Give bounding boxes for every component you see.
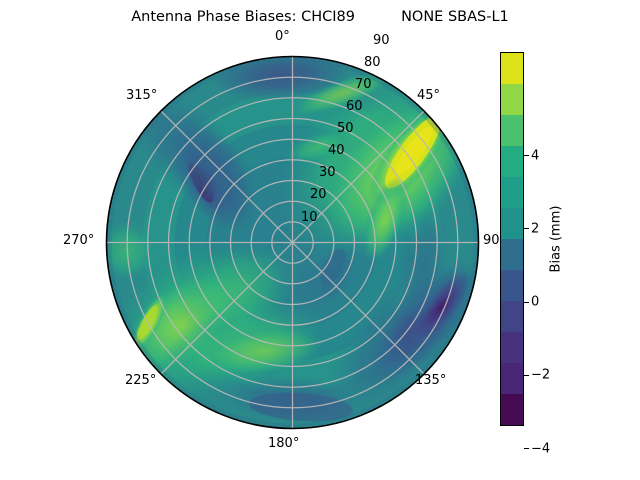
azimuth-label-90: 90 <box>483 233 500 248</box>
azimuth-label-315: 315° <box>126 88 157 103</box>
azimuth-label-45: 45° <box>417 88 440 103</box>
zenith-label-60: 60 <box>346 99 363 114</box>
colorbar-band-7 <box>501 270 523 301</box>
colorbar-band-9 <box>501 332 523 363</box>
zenith-label-90: 90 <box>373 33 390 48</box>
colorbar-band-4 <box>501 177 523 208</box>
colorbar-tick-2 <box>524 228 529 229</box>
polar-plot: 0° 45° 90 135° 180° 225° 270° 315° 10 20… <box>105 55 480 430</box>
colorbar-tick-m2 <box>524 375 529 376</box>
colorbar-tick-4 <box>524 155 529 156</box>
colorbar-band-11 <box>501 394 523 425</box>
colorbar-tick-m4 <box>524 448 529 449</box>
azimuth-label-135: 135° <box>415 373 446 388</box>
colorbar-band-5 <box>501 208 523 239</box>
page-title: Antenna Phase Biases: CHCI89 NONE SBAS-L… <box>0 8 640 26</box>
colorbar-band-1 <box>501 84 523 115</box>
colorbar-band-6 <box>501 239 523 270</box>
azimuth-label-270: 270° <box>63 233 94 248</box>
colorbar-gradient <box>500 52 524 426</box>
colorbar-ticklabel-m4: −4 <box>531 442 550 455</box>
azimuth-label-0: 0° <box>275 29 290 44</box>
azimuth-label-225: 225° <box>125 373 156 388</box>
colorbar-ticklabel-4: 4 <box>531 149 539 162</box>
colorbar-band-8 <box>501 301 523 332</box>
zenith-label-40: 40 <box>328 143 345 158</box>
zenith-label-70: 70 <box>355 77 372 92</box>
colorbar: 4 2 0 −2 −4 <box>500 52 524 426</box>
zenith-label-50: 50 <box>337 121 354 136</box>
colorbar-band-3 <box>501 146 523 177</box>
colorbar-ticklabel-0: 0 <box>531 296 539 309</box>
figure-canvas: Antenna Phase Biases: CHCI89 NONE SBAS-L… <box>0 0 640 480</box>
colorbar-tick-0 <box>524 302 529 303</box>
colorbar-band-2 <box>501 115 523 146</box>
colorbar-band-10 <box>501 363 523 394</box>
zenith-label-20: 20 <box>310 187 327 202</box>
colorbar-band-0 <box>501 53 523 84</box>
colorbar-ticklabel-m2: −2 <box>531 369 550 382</box>
azimuth-label-180: 180° <box>268 436 299 451</box>
zenith-label-30: 30 <box>319 165 336 180</box>
zenith-label-10: 10 <box>301 210 318 225</box>
colorbar-ticklabel-2: 2 <box>531 222 539 235</box>
colorbar-axis-label: Bias (mm) <box>550 206 563 273</box>
zenith-label-80: 80 <box>364 55 381 70</box>
